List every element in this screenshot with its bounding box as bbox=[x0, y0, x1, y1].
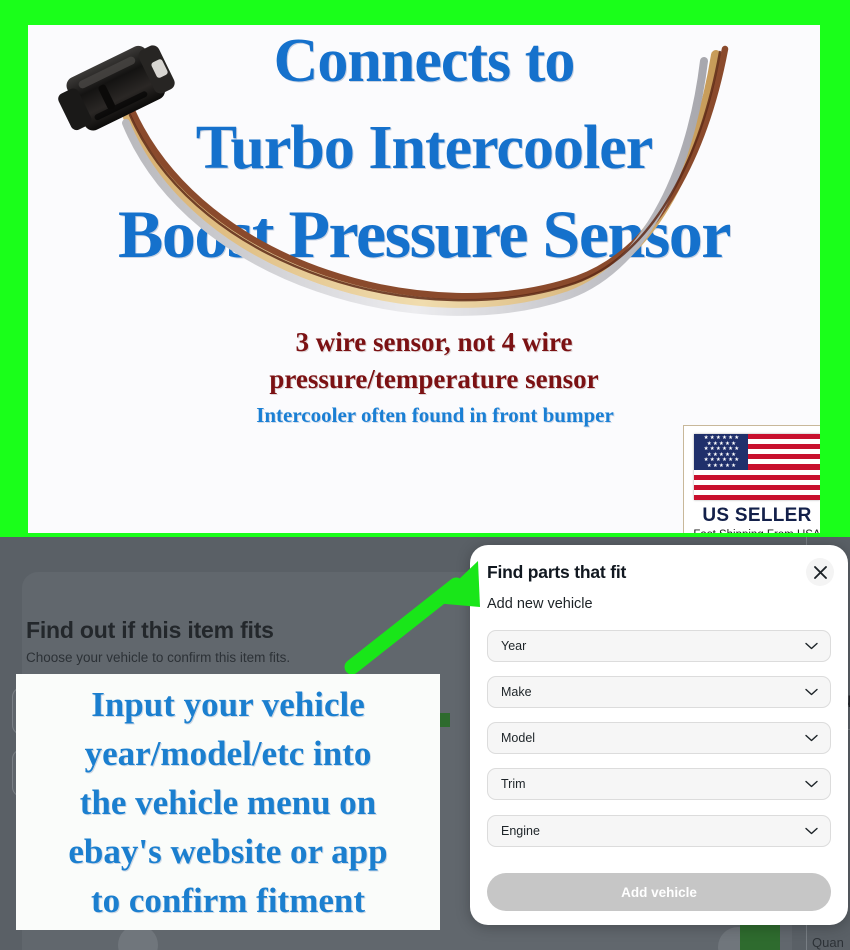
quantity-label: Quan bbox=[812, 935, 844, 950]
year-select[interactable]: Year bbox=[487, 630, 831, 662]
callout-line-1: Input your vehicle bbox=[91, 680, 365, 729]
us-seller-subtitle: Fast Shipping From USA bbox=[684, 529, 820, 533]
us-flag-icon: ★★★★★★★★★★★★★★★★★★★★★★★★★★★★★★★★★ bbox=[694, 434, 820, 500]
make-select-label: Make bbox=[501, 685, 532, 699]
make-select[interactable]: Make bbox=[487, 676, 831, 708]
fitment-subtext: Choose your vehicle to confirm this item… bbox=[26, 650, 290, 665]
fitment-heading: Find out if this item fits bbox=[26, 617, 274, 644]
year-select-label: Year bbox=[501, 639, 526, 653]
callout-line-3: the vehicle menu on bbox=[80, 778, 377, 827]
trim-select-label: Trim bbox=[501, 777, 526, 791]
close-icon[interactable] bbox=[806, 558, 834, 586]
find-parts-modal: Find parts that fit Add new vehicle Year… bbox=[470, 545, 848, 925]
subtext-red-line-2: pressure/temperature sensor bbox=[234, 361, 634, 398]
chevron-down-icon bbox=[805, 780, 818, 788]
listing-image-canvas: Connects to Turbo Intercooler Boost Pres… bbox=[28, 25, 820, 533]
model-select[interactable]: Model bbox=[487, 722, 831, 754]
callout-line-5: to confirm fitment bbox=[91, 876, 365, 925]
flag-canton: ★★★★★★★★★★★★★★★★★★★★★★★★★★★★★★★★★ bbox=[694, 434, 748, 470]
chevron-down-icon bbox=[805, 688, 818, 696]
us-seller-title: US SELLER bbox=[684, 505, 820, 527]
engine-select[interactable]: Engine bbox=[487, 815, 831, 847]
chevron-down-icon bbox=[805, 642, 818, 650]
engine-select-label: Engine bbox=[501, 824, 540, 838]
subtext-red-line-1: 3 wire sensor, not 4 wire bbox=[234, 324, 634, 361]
listing-image: Connects to Turbo Intercooler Boost Pres… bbox=[0, 0, 850, 537]
modal-subtitle: Add new vehicle bbox=[487, 596, 593, 612]
trim-select[interactable]: Trim bbox=[487, 768, 831, 800]
add-vehicle-button[interactable]: Add vehicle bbox=[487, 873, 831, 911]
callout-line-2: year/model/etc into bbox=[85, 729, 372, 778]
us-seller-badge: ★★★★★★★★★★★★★★★★★★★★★★★★★★★★★★★★★ US SEL… bbox=[683, 425, 820, 533]
modal-title: Find parts that fit bbox=[487, 562, 626, 583]
listing-subtext-blue: Intercooler often found in front bumper bbox=[200, 403, 670, 428]
chevron-down-icon bbox=[805, 734, 818, 742]
instruction-callout: Input your vehicle year/model/etc into t… bbox=[16, 674, 440, 930]
listing-subtext-red: 3 wire sensor, not 4 wire pressure/tempe… bbox=[234, 324, 634, 399]
callout-line-4: ebay's website or app bbox=[68, 827, 387, 876]
model-select-label: Model bbox=[501, 731, 535, 745]
chevron-down-icon bbox=[805, 827, 818, 835]
